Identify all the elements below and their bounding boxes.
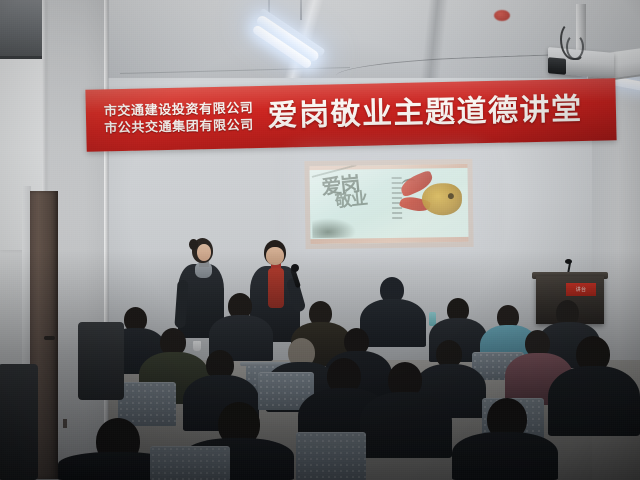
photo-scene: 市交通建设投资有限公司 市公共交通集团有限公司 爱岗敬业主题道德讲堂 爱岗 敬业 [0, 0, 640, 480]
slide-rock-motif [312, 217, 356, 238]
event-banner: 市交通建设投资有限公司 市公共交通集团有限公司 爱岗敬业主题道德讲堂 [85, 78, 616, 152]
projection-screen: 爱岗 敬业 [304, 159, 473, 249]
microphone-head [291, 264, 299, 272]
left-wall-edge [104, 0, 109, 480]
door-handle[interactable] [44, 336, 55, 340]
banner-org-line-2: 市公共交通集团有限公司 [104, 118, 254, 137]
podium-sign: 讲台 [566, 283, 596, 296]
projected-slide: 爱岗 敬业 [309, 164, 468, 244]
projector-lens [548, 57, 566, 75]
podium-microphone-icon [565, 259, 572, 264]
window-blind [0, 0, 44, 59]
projector-cable-loop [566, 34, 584, 60]
red-ceiling-spot-icon [494, 10, 510, 21]
slide-subtitle-char: 敬业 [334, 191, 375, 211]
slide-fish-motif [402, 173, 465, 228]
banner-org-line-1: 市交通建设投资有限公司 [104, 101, 254, 120]
banner-headline: 爱岗敬业主题道德讲堂 [267, 95, 583, 132]
paper-cup [193, 341, 201, 351]
door-hinge [63, 419, 67, 428]
lamp-suspension-rod-b [300, 0, 302, 20]
podium-sign-label: 讲台 [576, 286, 587, 293]
slide-border-bottom [310, 237, 468, 244]
banner-organization-block: 市交通建设投资有限公司 市公共交通集团有限公司 [86, 101, 254, 137]
screen-frame: 爱岗 敬业 [304, 159, 473, 249]
